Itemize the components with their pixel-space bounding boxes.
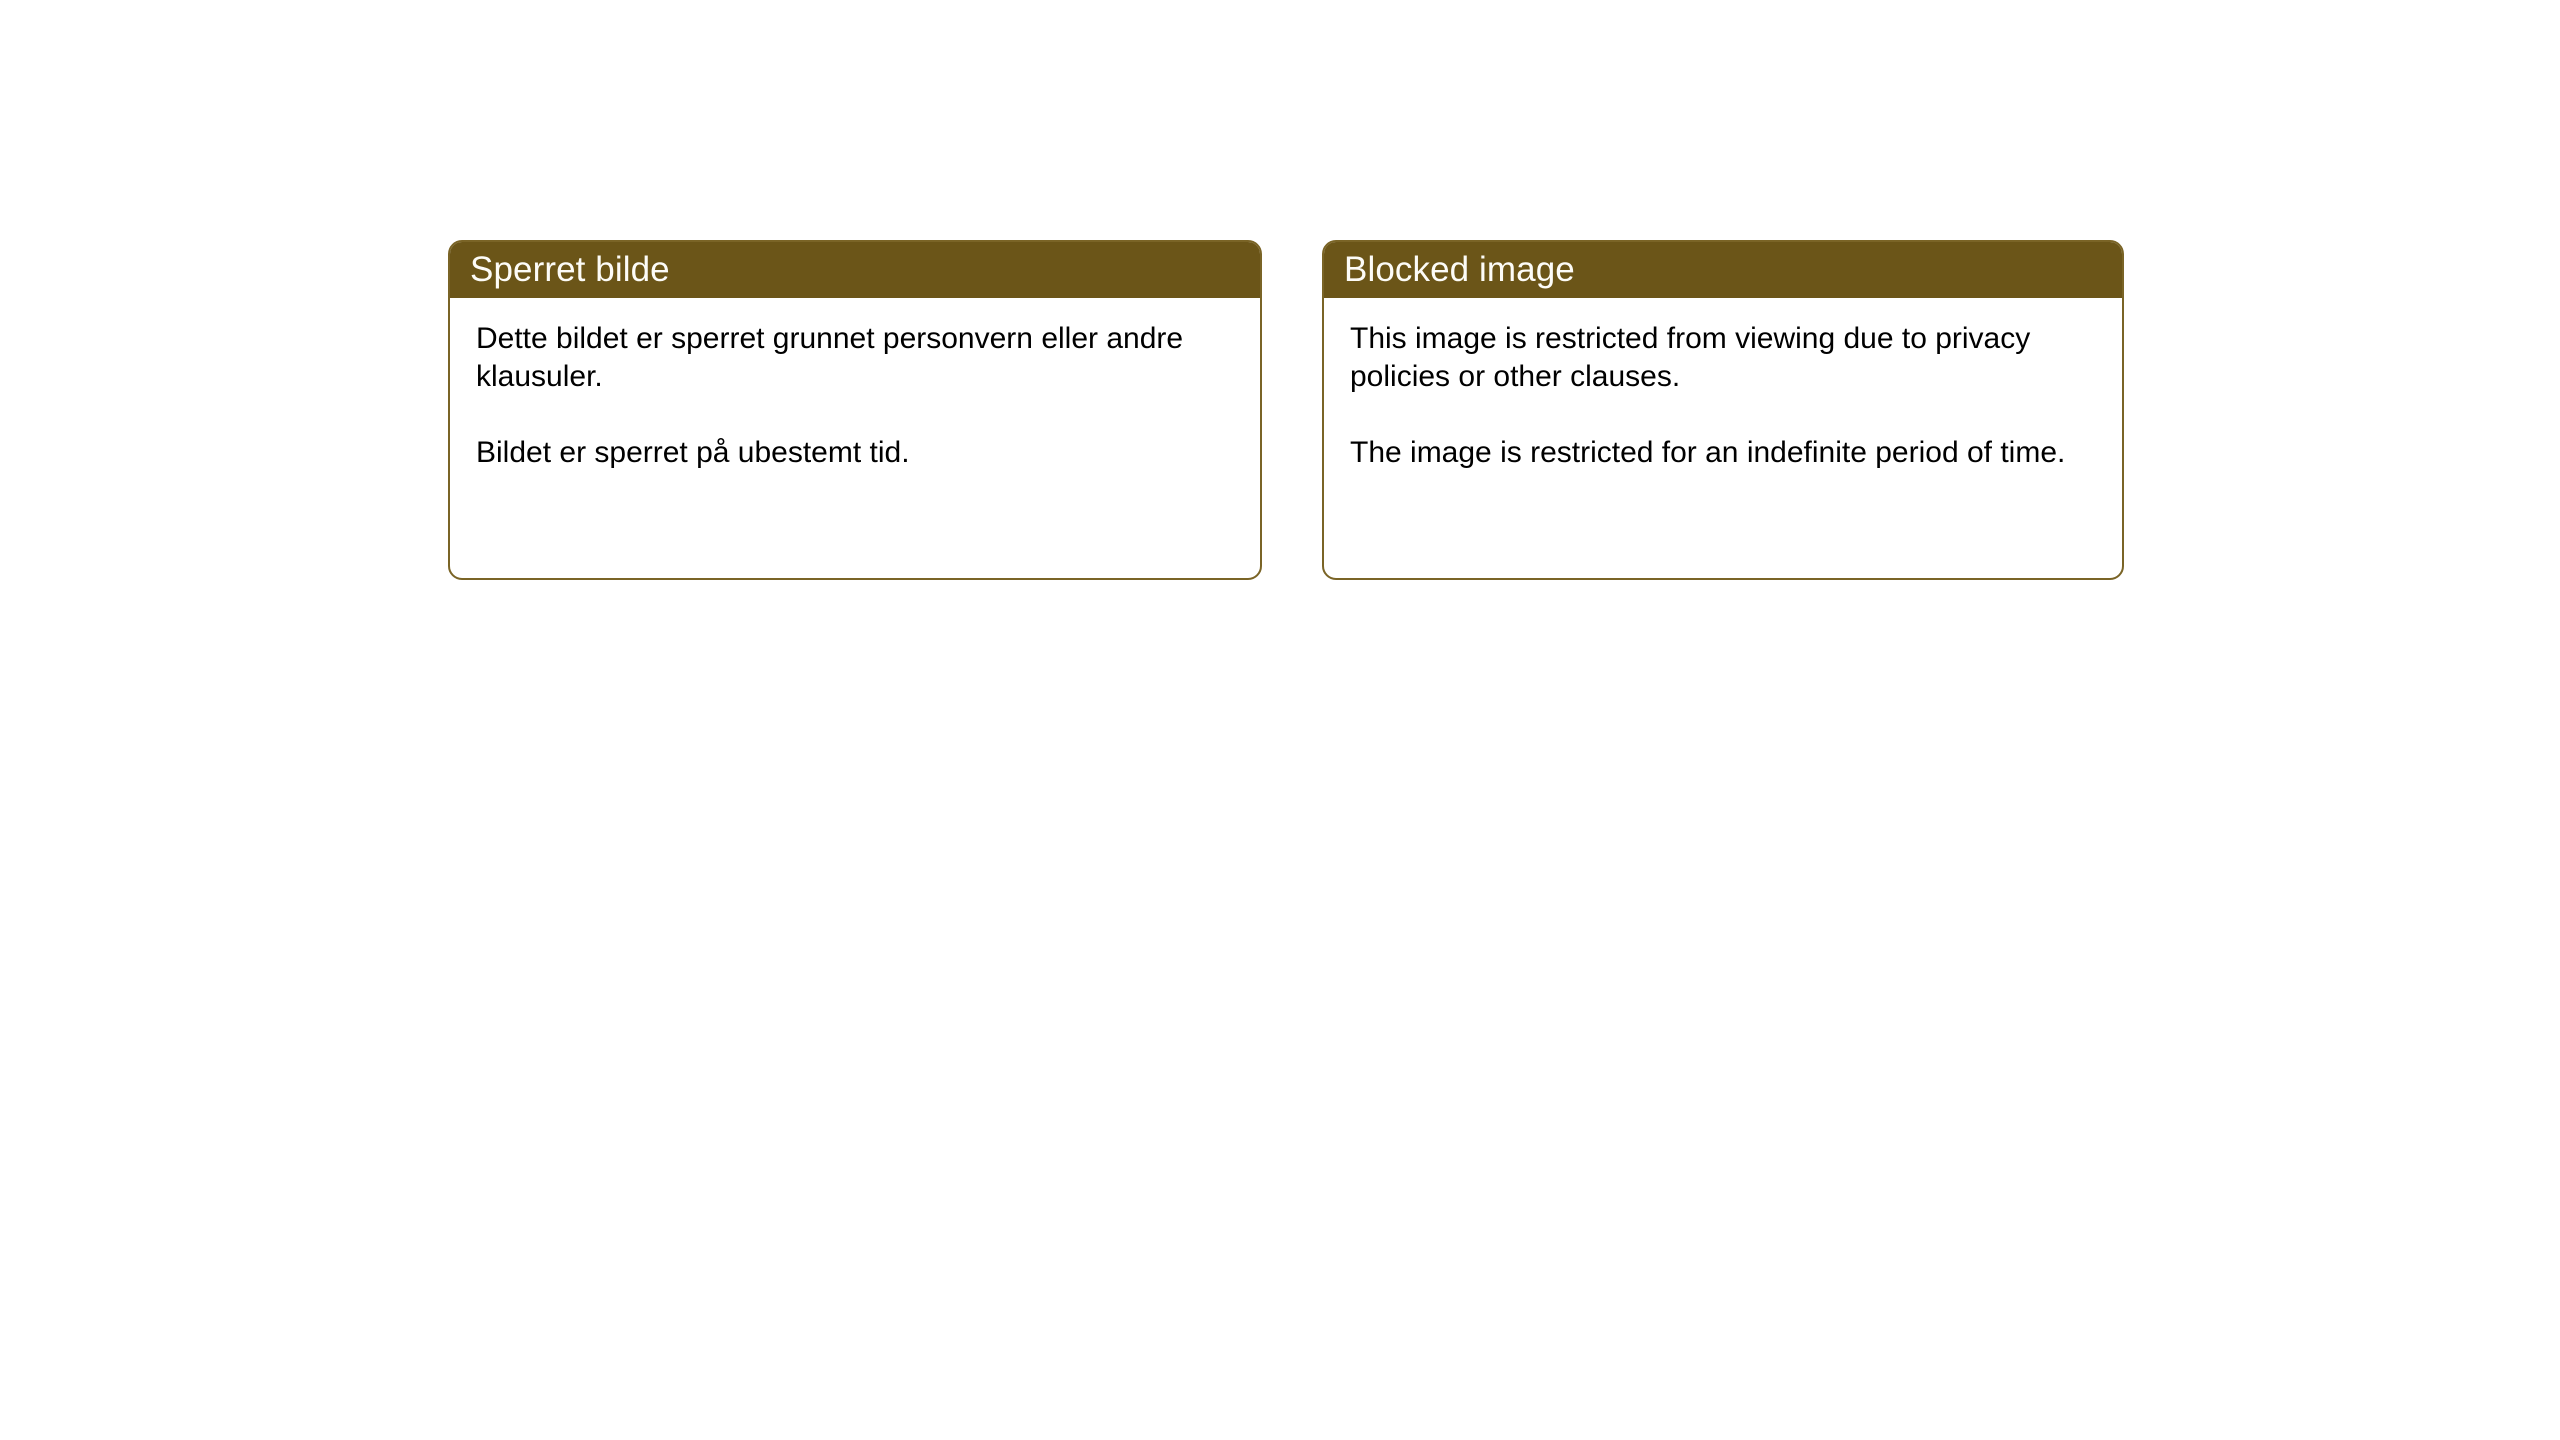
card-paragraph-english-1: This image is restricted from viewing du… xyxy=(1350,320,2096,396)
card-title-norwegian: Sperret bilde xyxy=(470,252,670,287)
paragraph-spacer-english xyxy=(1350,396,2096,434)
card-paragraph-norwegian-2: Bildet er sperret på ubestemt tid. xyxy=(476,434,1234,472)
card-paragraph-english-2: The image is restricted for an indefinit… xyxy=(1350,434,2096,472)
card-header-norwegian: Sperret bilde xyxy=(448,240,1262,298)
page-root: Sperret bilde Dette bildet er sperret gr… xyxy=(0,0,2560,1440)
paragraph-spacer-norwegian xyxy=(476,396,1234,434)
card-body-english: This image is restricted from viewing du… xyxy=(1324,298,2122,578)
blocked-image-card-group: Sperret bilde Dette bildet er sperret gr… xyxy=(448,240,2124,580)
card-title-english: Blocked image xyxy=(1344,252,1575,287)
blocked-image-card-norwegian: Sperret bilde Dette bildet er sperret gr… xyxy=(448,240,1262,580)
blocked-image-card-english: Blocked image This image is restricted f… xyxy=(1322,240,2124,580)
card-body-norwegian: Dette bildet er sperret grunnet personve… xyxy=(450,298,1260,578)
card-header-english: Blocked image xyxy=(1322,240,2124,298)
card-paragraph-norwegian-1: Dette bildet er sperret grunnet personve… xyxy=(476,320,1234,396)
